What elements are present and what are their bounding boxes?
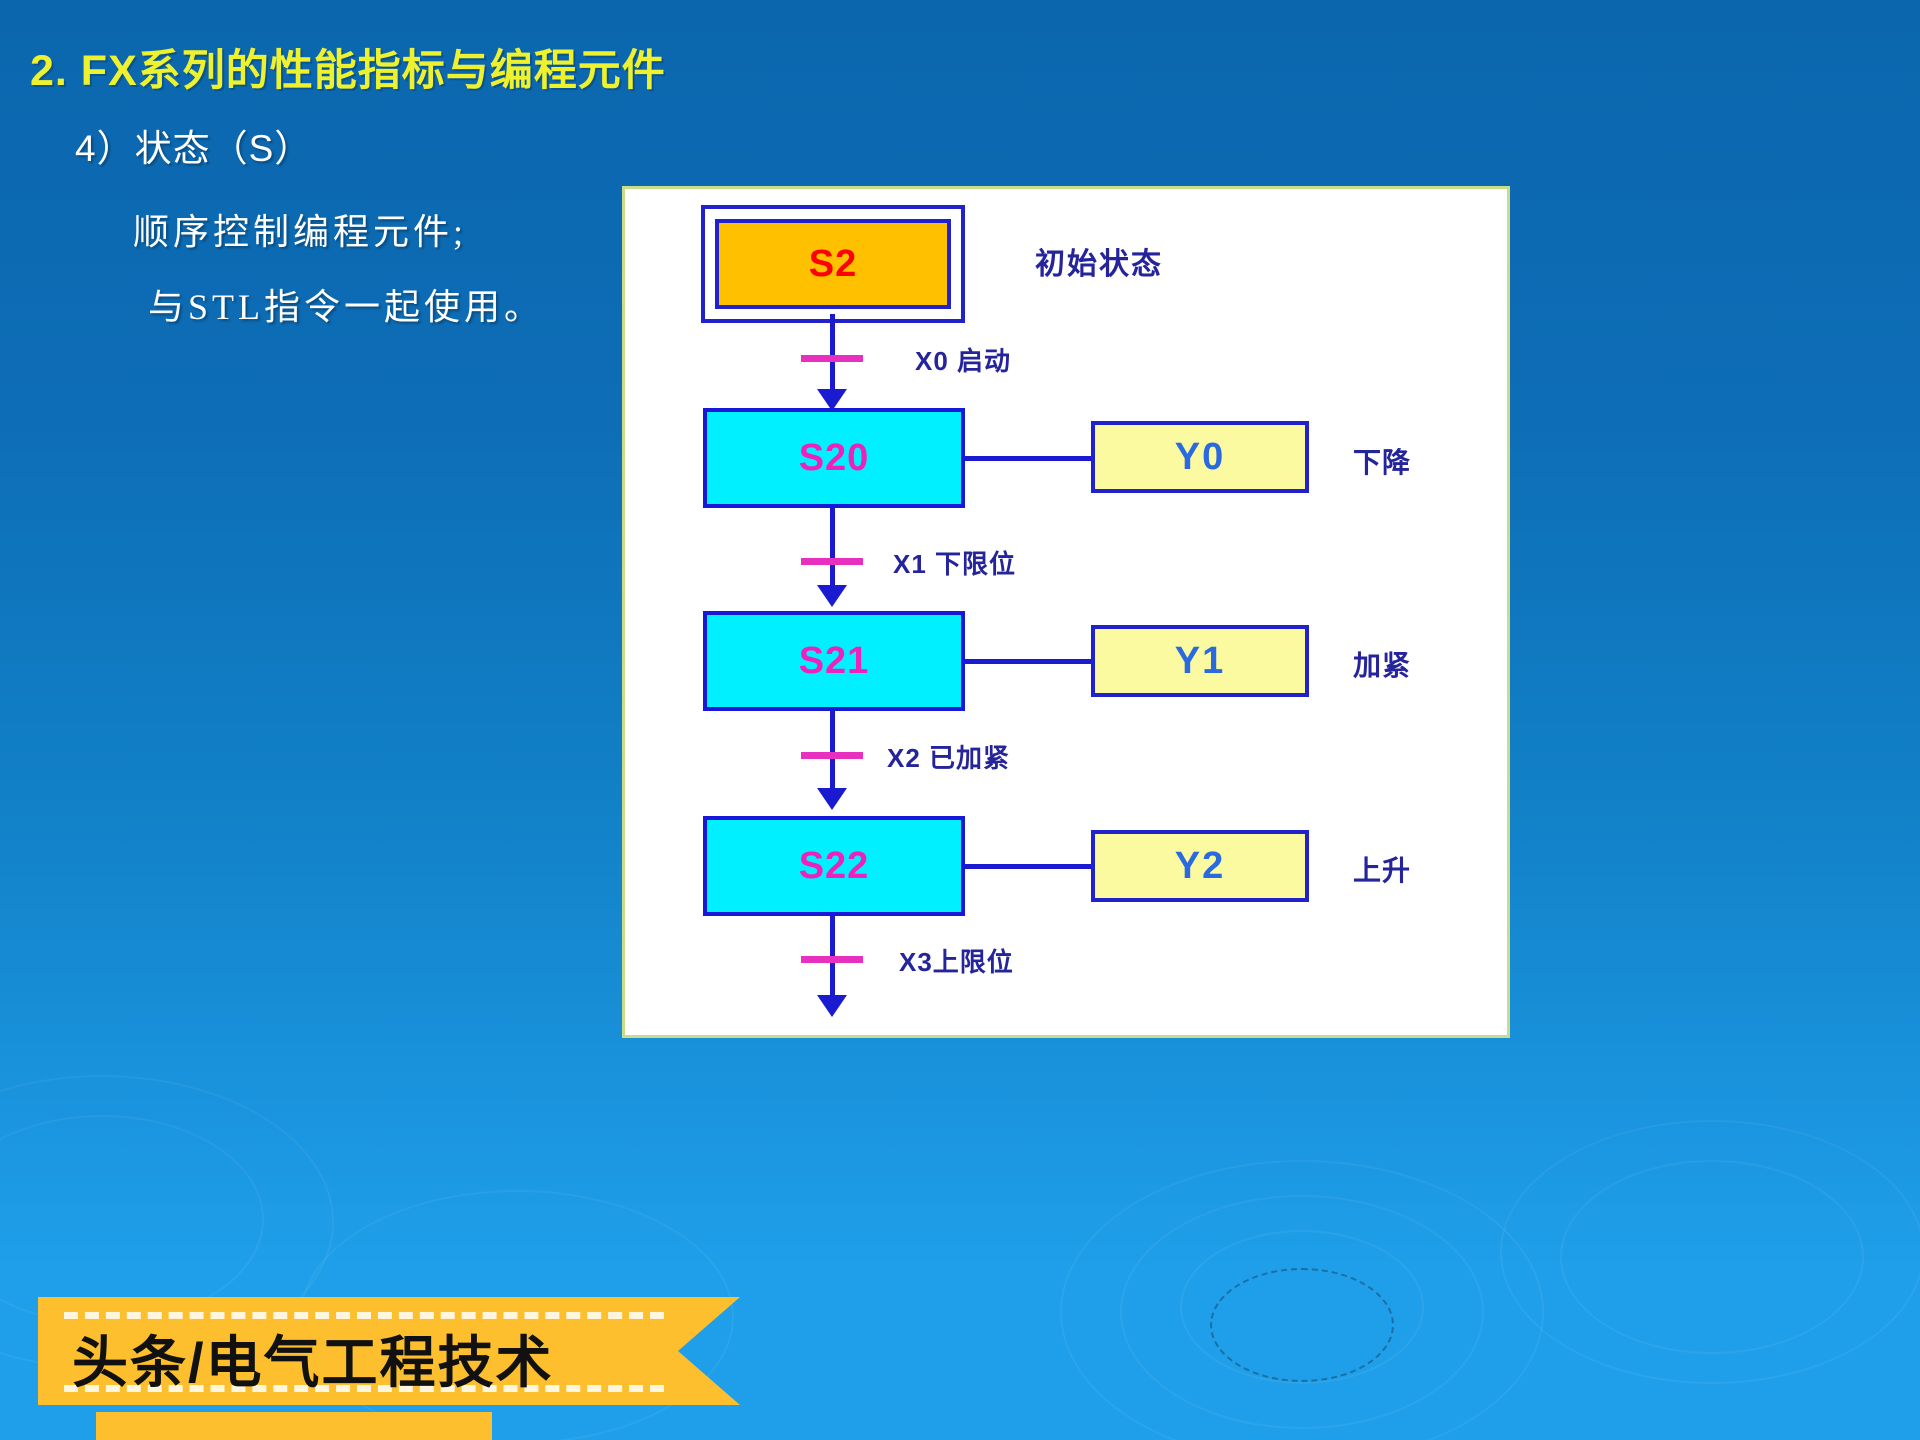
transition-label-x1: X1 下限位 bbox=[893, 544, 1016, 581]
output-label-y0: Y0 bbox=[1175, 436, 1225, 479]
sfc-diagram-panel: S2 初始状态 X0 启动 S20 Y0 下降 X1 下限位 bbox=[622, 186, 1510, 1038]
output-note-y2: 上升 bbox=[1353, 849, 1411, 889]
transition-label-x2: X2 已加紧 bbox=[887, 738, 1010, 775]
output-label-y1: Y1 bbox=[1175, 640, 1225, 683]
link-line-2 bbox=[830, 507, 835, 595]
ripple-decoration bbox=[1560, 1160, 1864, 1354]
state-label-s20: S20 bbox=[799, 437, 870, 480]
output-link-1 bbox=[965, 456, 1093, 461]
output-box-y2[interactable]: Y2 bbox=[1091, 830, 1309, 902]
state-label-s22: S22 bbox=[799, 845, 870, 888]
output-note-y1: 加紧 bbox=[1353, 644, 1411, 684]
ribbon-tail-chevron bbox=[678, 1297, 740, 1405]
bottom-ribbon: 头条/电气工程技术 bbox=[38, 1297, 780, 1405]
ripple-decoration bbox=[1060, 1160, 1544, 1440]
output-label-y2: Y2 bbox=[1175, 845, 1225, 888]
output-link-2 bbox=[965, 659, 1093, 664]
slide-canvas: 2. FX系列的性能指标与编程元件 4）状态（S） 顺序控制编程元件; 与STL… bbox=[0, 0, 1920, 1440]
ripple-decoration bbox=[1120, 1195, 1484, 1429]
output-box-y0[interactable]: Y0 bbox=[1091, 421, 1309, 493]
output-note-y0: 下降 bbox=[1353, 441, 1411, 481]
arrowhead-2 bbox=[817, 585, 847, 607]
output-box-y1[interactable]: Y1 bbox=[1091, 625, 1309, 697]
body-text-line-2: 与STL指令一起使用。 bbox=[148, 278, 544, 330]
state-box-s22[interactable]: S22 bbox=[703, 816, 965, 916]
transition-bar-x1 bbox=[801, 558, 863, 565]
arrowhead-3 bbox=[817, 788, 847, 810]
output-link-3 bbox=[965, 864, 1093, 869]
ripple-decoration bbox=[0, 1115, 264, 1324]
initial-state-label: S2 bbox=[809, 243, 857, 286]
state-box-s20[interactable]: S20 bbox=[703, 408, 965, 508]
subheading: 4）状态（S） bbox=[75, 118, 312, 172]
initial-state-box[interactable]: S2 bbox=[715, 219, 951, 309]
body-text-line-1: 顺序控制编程元件; bbox=[133, 203, 467, 255]
ribbon-label: 头条/电气工程技术 bbox=[72, 1318, 554, 1399]
ribbon-footer-bar bbox=[96, 1412, 492, 1440]
page-title: 2. FX系列的性能指标与编程元件 bbox=[30, 36, 666, 98]
initial-state-note: 初始状态 bbox=[1035, 239, 1163, 283]
arrowhead-4 bbox=[817, 995, 847, 1017]
transition-bar-x0 bbox=[801, 355, 863, 362]
ripple-decoration bbox=[1180, 1230, 1424, 1384]
ripple-dashed-decoration bbox=[1210, 1268, 1394, 1382]
transition-bar-x3 bbox=[801, 956, 863, 963]
transition-bar-x2 bbox=[801, 752, 863, 759]
ripple-decoration bbox=[1500, 1120, 1920, 1384]
state-label-s21: S21 bbox=[799, 640, 870, 683]
transition-label-x0: X0 启动 bbox=[915, 341, 1011, 378]
transition-label-x3: X3上限位 bbox=[899, 942, 1014, 979]
state-box-s21[interactable]: S21 bbox=[703, 611, 965, 711]
